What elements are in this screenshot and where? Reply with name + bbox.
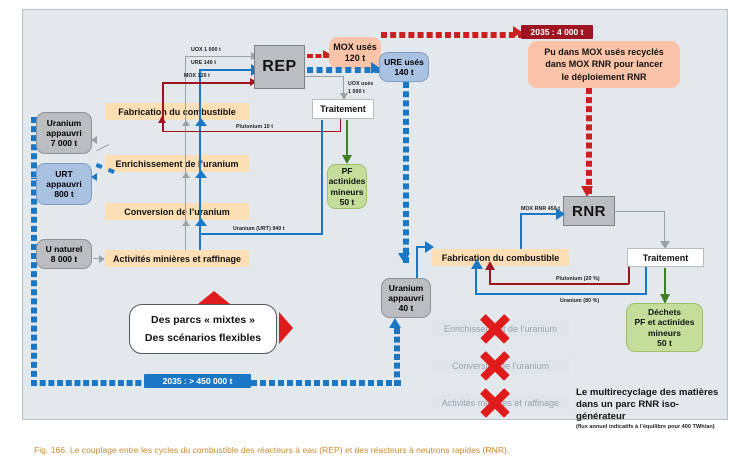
node-u-naturel-8000: U naturel 8 000 t xyxy=(36,239,92,269)
node-uranium-appauvri-40: Uranium appauvri 40 t xyxy=(381,278,431,318)
process-fabrication-rep: Fabrication du combustible xyxy=(105,103,249,120)
node-urt-appauvri-800: URT appauvri 800 t xyxy=(36,163,92,205)
arrowhead-fab-rnr xyxy=(425,241,434,253)
arrowhead-ure-1 xyxy=(195,118,207,126)
node-line1: URT xyxy=(55,169,72,179)
node-traitement-rnr: Traitement xyxy=(627,248,704,267)
callout-line3: le déploiement RNR xyxy=(561,71,646,83)
line-rnr-to-traitement xyxy=(615,211,665,212)
process-conversion-rep: Conversion de l’uranium xyxy=(105,203,249,220)
node-line2: 140 t xyxy=(394,67,413,77)
flow-label-mox-rnr: MOX RNR 450 t xyxy=(521,206,560,212)
dash-up-to-uappauvri40 xyxy=(394,328,400,386)
node-line1: Déchets xyxy=(648,307,681,317)
line-urt-return-horizontal xyxy=(199,233,323,235)
line-moxrnr-in xyxy=(520,213,560,215)
flow-label-mox-in: MOX 120 t xyxy=(184,73,210,79)
node-line3: mineurs xyxy=(330,187,363,197)
node-uranium-appauvri-7000: Uranium appauvri 7 000 t xyxy=(36,112,92,154)
badge-2035-red: 2035 : 4 000 t xyxy=(521,25,593,39)
flow-label-uranium-pct: Uranium (80 %) xyxy=(560,298,599,304)
node-line3: mineurs xyxy=(648,328,681,338)
flow-label-plutonium-pct: Plutonium (20 %) xyxy=(556,276,600,282)
dash-mox-to-badge xyxy=(381,32,524,38)
process-minier-rep: Activités minières et raffinage xyxy=(105,250,249,267)
line-uranium80-down xyxy=(645,267,647,294)
node-ure-uses-140: URE usés 140 t xyxy=(379,52,429,82)
legend-rnr: Le multirecyclage des matières dans un p… xyxy=(576,387,726,430)
node-line2: appauvri xyxy=(388,293,423,303)
arrowhead-unat xyxy=(99,255,105,263)
arrow-enrich-to-uappauvri xyxy=(96,144,109,151)
callout-line2: dans MOX RNR pour lancer xyxy=(545,58,663,70)
line-mox-vertical xyxy=(162,82,164,131)
arrowhead-urt xyxy=(91,173,97,181)
flow-label-uox-in: UOX 1 000 t xyxy=(191,47,221,53)
node-line1: Uranium xyxy=(47,118,81,128)
arrowhead-uox-1 xyxy=(182,120,190,126)
node-line2: actinides xyxy=(329,176,366,186)
line-pu20-up xyxy=(489,269,491,284)
legend-line1: Le multirecyclage des matières xyxy=(576,387,726,399)
arrowhead-pf xyxy=(342,155,352,164)
flow-label-uox-spent: UOX usés xyxy=(348,81,373,87)
callout-line1: Des parcs « mixtes » xyxy=(151,314,255,326)
blue-dashed-bottom-left xyxy=(31,380,150,386)
line-rnr-down xyxy=(664,211,665,243)
node-line2: appauvri xyxy=(46,179,81,189)
arrowhead-uox-2 xyxy=(182,172,190,178)
callout-parcs-mixtes: Des parcs « mixtes » Des scénarios flexi… xyxy=(129,304,277,354)
node-line2: appauvri xyxy=(46,128,81,138)
legend-note: (flux annuel indicatifs à l’équilibre po… xyxy=(576,424,726,430)
line-uranium80-horizontal xyxy=(475,293,647,295)
red-triangle-up xyxy=(198,291,230,304)
cross-icon-enrichissement xyxy=(478,312,512,346)
flow-label-plutonium-rep: Plutonium 10 t xyxy=(236,124,273,130)
line-uranium80-up xyxy=(475,267,477,294)
flow-label-uranium-urt: Uranium (URT) 940 t xyxy=(233,226,285,232)
process-fabrication-rnr: Fabrication du combustible xyxy=(432,249,569,266)
node-line3: 40 t xyxy=(399,303,414,313)
line-urt-return-vertical xyxy=(321,120,323,233)
line-uox-top xyxy=(185,56,253,57)
red-triangle-right xyxy=(279,312,293,344)
arrowhead-uranium80 xyxy=(471,259,483,269)
cross-icon-minier xyxy=(478,386,512,420)
reactor-rep: REP xyxy=(254,45,305,89)
node-traitement-rep: Traitement xyxy=(312,99,374,119)
line-traitement-to-pf xyxy=(346,120,348,157)
node-line1: MOX usés xyxy=(333,42,377,53)
arrowhead-uappauvri xyxy=(91,136,97,144)
figure-caption: Fig. 166. Le couplage entre les cycles d… xyxy=(34,445,509,455)
line-traitement-to-dechets xyxy=(664,268,666,296)
badge-2035-blue: 2035 : > 450 000 t xyxy=(144,374,251,388)
node-line2: PF et actinides xyxy=(635,317,695,327)
node-line4: 50 t xyxy=(340,197,355,207)
node-line2: 8 000 t xyxy=(51,254,77,264)
diagram-panel: Uranium appauvri 7 000 t URT appauvri 80… xyxy=(22,9,728,420)
figure-root: Uranium appauvri 7 000 t URT appauvri 80… xyxy=(0,0,750,463)
line-uappauvri-to-fab xyxy=(416,246,418,278)
node-line2: 120 t xyxy=(345,53,366,64)
line-plutonium-return xyxy=(162,131,341,132)
dash-down-to-rnr xyxy=(586,88,592,194)
flow-label-uox-spent-qty: 1 000 t xyxy=(348,89,365,95)
arrowhead-ure-down xyxy=(398,253,410,263)
arrowhead-uappauvri40 xyxy=(389,318,401,328)
reactor-rnr: RNR xyxy=(563,196,615,226)
arrowhead-ure-3 xyxy=(195,218,207,226)
node-line1: URE usés xyxy=(384,57,424,67)
line-ure-top xyxy=(199,69,253,71)
dash-rep-to-ureuses xyxy=(307,67,380,73)
dash-ure-down xyxy=(403,82,409,263)
node-line3: 800 t xyxy=(54,189,73,199)
callout-line2: Des scénarios flexibles xyxy=(145,332,261,344)
arrowhead-ure-2 xyxy=(195,170,207,178)
node-dechets-pf-50: Déchets PF et actinides mineurs 50 t xyxy=(626,303,703,352)
line-mox-top xyxy=(162,82,253,84)
node-line3: 7 000 t xyxy=(51,138,77,148)
cross-icon-conversion xyxy=(478,349,512,383)
blue-dashed-bottom-mid xyxy=(251,380,401,386)
callout-line1: Pu dans MOX usés recyclés xyxy=(544,46,664,58)
callout-pu-mox-rnr: Pu dans MOX usés recyclés dans MOX RNR p… xyxy=(528,41,680,88)
process-enrichissement-rep: Enrichissement de l’uranium xyxy=(105,155,249,172)
node-pf-actinides-50: PF actinides mineurs 50 t xyxy=(327,164,367,209)
arrowhead-pu20 xyxy=(485,261,495,270)
arrowhead-uox-3 xyxy=(182,220,190,226)
line-down-to-traitement xyxy=(343,76,344,94)
node-line4: 50 t xyxy=(657,338,672,348)
line-pu20-down xyxy=(628,267,630,284)
flow-label-ure-in: URE 140 t xyxy=(191,60,216,66)
line-pu20-horizontal xyxy=(489,283,629,285)
node-line1: PF xyxy=(342,166,353,176)
legend-line2: dans un parc RNR iso-générateur xyxy=(576,399,726,423)
node-line1: U naturel xyxy=(46,244,83,254)
arrowhead-pu-into-fab xyxy=(158,116,166,123)
node-line1: Uranium xyxy=(389,283,423,293)
line-rep-to-traitement xyxy=(305,76,344,77)
